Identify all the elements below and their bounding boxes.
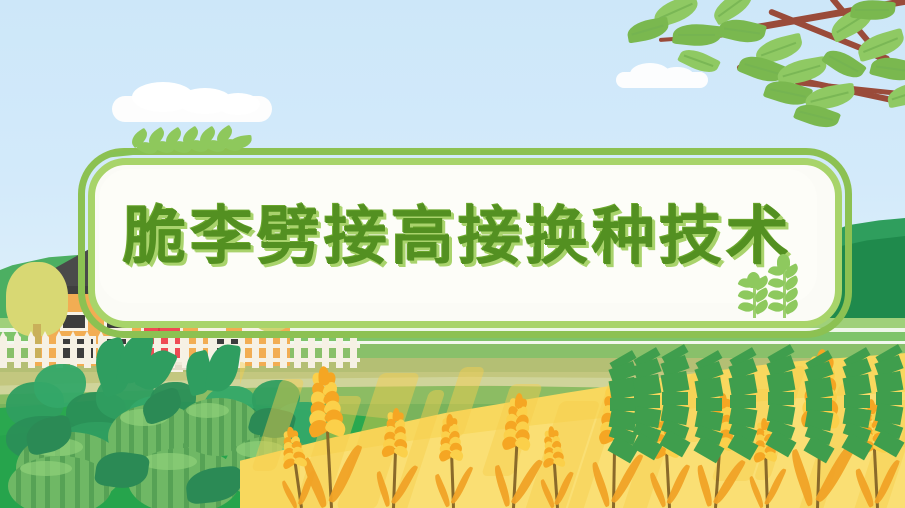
wheat-grain <box>293 455 308 467</box>
wheat-grain <box>764 450 779 464</box>
wheat-blade <box>492 465 513 507</box>
wheat-stalk <box>392 412 397 508</box>
wheat-blade <box>373 470 392 507</box>
grass-tuft <box>662 350 688 370</box>
grass-tuft <box>696 356 722 376</box>
plant-tip <box>747 272 760 288</box>
wheat-tip <box>318 366 329 385</box>
wheat-sprig-icon <box>108 126 248 160</box>
grass-tuft <box>730 353 756 373</box>
branch-leaf <box>677 44 721 78</box>
wheat-stalk <box>449 418 454 508</box>
wheat-blade <box>787 449 817 507</box>
wheat-tip <box>392 408 400 421</box>
wheat-tip <box>514 393 523 409</box>
wheat-blade <box>695 465 715 507</box>
wheat-tip <box>548 426 555 437</box>
card-plant <box>740 278 768 318</box>
wheat-stalk <box>763 422 768 508</box>
wheat-ear <box>381 412 410 457</box>
branch-leaf <box>885 80 905 109</box>
branch-leaf <box>672 22 722 49</box>
wheat-stalk <box>323 372 332 508</box>
plant-sprigs-icon <box>734 252 812 318</box>
wheat-blade <box>589 461 613 507</box>
wheat-blade <box>432 474 452 508</box>
wheat-blade <box>874 458 900 505</box>
tree-branch-top-right <box>619 0 905 144</box>
wheat-tip <box>446 414 453 427</box>
plant-tip <box>777 254 790 270</box>
wheat-grain <box>449 447 465 461</box>
wheat-blade <box>328 443 363 505</box>
wheat-ear <box>278 429 307 468</box>
page-title: 脆李劈接高接换种技术 <box>123 205 793 268</box>
grass-tuft <box>768 350 794 370</box>
wheat-ear <box>502 397 534 449</box>
grass-tuft <box>634 353 660 373</box>
wheat-ear <box>540 429 565 466</box>
wheat-grain <box>552 455 566 467</box>
title-card: 脆李劈接高接换种技术 <box>78 148 838 324</box>
wheat-ear <box>437 418 464 460</box>
wheat-tip <box>286 427 294 439</box>
wheat-stalk <box>551 430 558 508</box>
card-plant <box>770 260 798 318</box>
wheat-ear <box>305 371 346 435</box>
wheat-stalk <box>512 398 520 508</box>
title-card-face: 脆李劈接高接换种技术 <box>99 169 817 303</box>
wheat-blade <box>666 463 690 506</box>
wheat-stalk <box>289 431 302 508</box>
scene-root: 脆李劈接高接换种技术 <box>0 0 905 508</box>
grass-tuft <box>806 356 832 376</box>
grass-tuft <box>876 350 902 370</box>
grass-tuft <box>844 353 870 373</box>
